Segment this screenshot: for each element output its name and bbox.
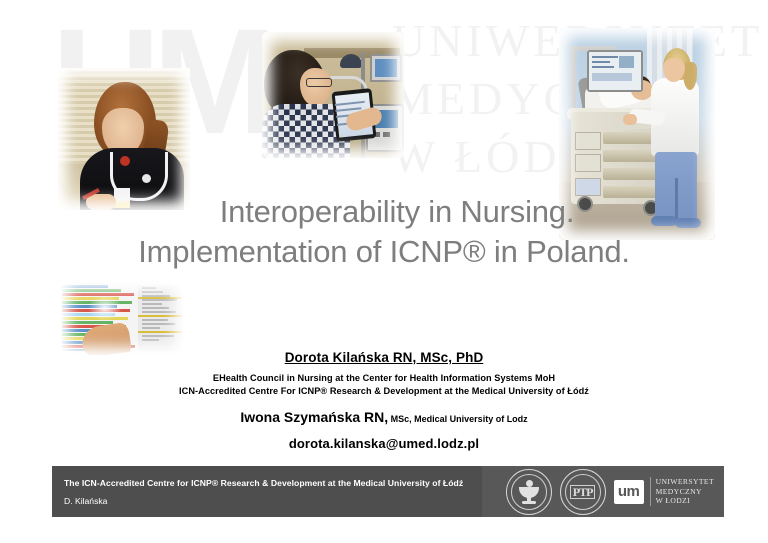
slide-title: Interoperability in Nursing. Implementat…	[0, 192, 768, 272]
nursing-chalice-seal-icon	[506, 469, 552, 515]
affiliation-line-2: ICN-Accredited Centre For ICNP® Research…	[0, 385, 768, 398]
ptp-seal-icon: PTP	[560, 469, 606, 515]
secondary-author-affiliation: MSc, Medical University of Lodz	[391, 414, 528, 424]
um-wordmark-line-1: UNIWERSYTET	[656, 477, 714, 487]
secondary-author: Iwona Szymańska RN, MSc, Medical Univers…	[0, 409, 768, 425]
photo-colour-coded-screen-with-pointing-hand	[60, 281, 184, 355]
photo-nurse-using-tablet-at-bedside	[262, 32, 404, 158]
ptp-seal-label: PTP	[570, 485, 596, 499]
um-logo: um UNIWERSYTET MEDYCZNY W ŁODZI	[614, 477, 714, 506]
um-logo-mark: um	[614, 480, 644, 504]
contact-email[interactable]: dorota.kilanska@umed.lodz.pl	[0, 436, 768, 451]
footer-logos: PTP um UNIWERSYTET MEDYCZNY W ŁODZI	[506, 466, 714, 517]
um-logo-wordmark: UNIWERSYTET MEDYCZNY W ŁODZI	[650, 477, 714, 506]
affiliation-line-1: EHealth Council in Nursing at the Center…	[0, 372, 768, 385]
um-wordmark-line-2: MEDYCZNY	[656, 487, 714, 497]
footer-subtitle: D. Kilańska	[64, 496, 463, 507]
authors-block: Dorota Kilańska RN, MSc, PhD EHealth Cou…	[0, 350, 768, 451]
um-wordmark-line-3: W ŁODZI	[656, 496, 714, 506]
footer-title: The ICN-Accredited Centre for ICNP® Rese…	[64, 477, 463, 489]
footer-text-block: The ICN-Accredited Centre for ICNP® Rese…	[64, 477, 463, 507]
photo-nurse-writing-on-clipboard	[58, 68, 190, 210]
title-line-2: Implementation of ICNP® in Poland.	[0, 232, 768, 272]
primary-author-name: Dorota Kilańska RN, MSc, PhD	[0, 350, 768, 365]
title-line-1: Interoperability in Nursing.	[0, 192, 768, 232]
secondary-author-name: Iwona Szymańska RN,	[240, 409, 388, 425]
footer-bar: The ICN-Accredited Centre for ICNP® Rese…	[52, 466, 724, 517]
